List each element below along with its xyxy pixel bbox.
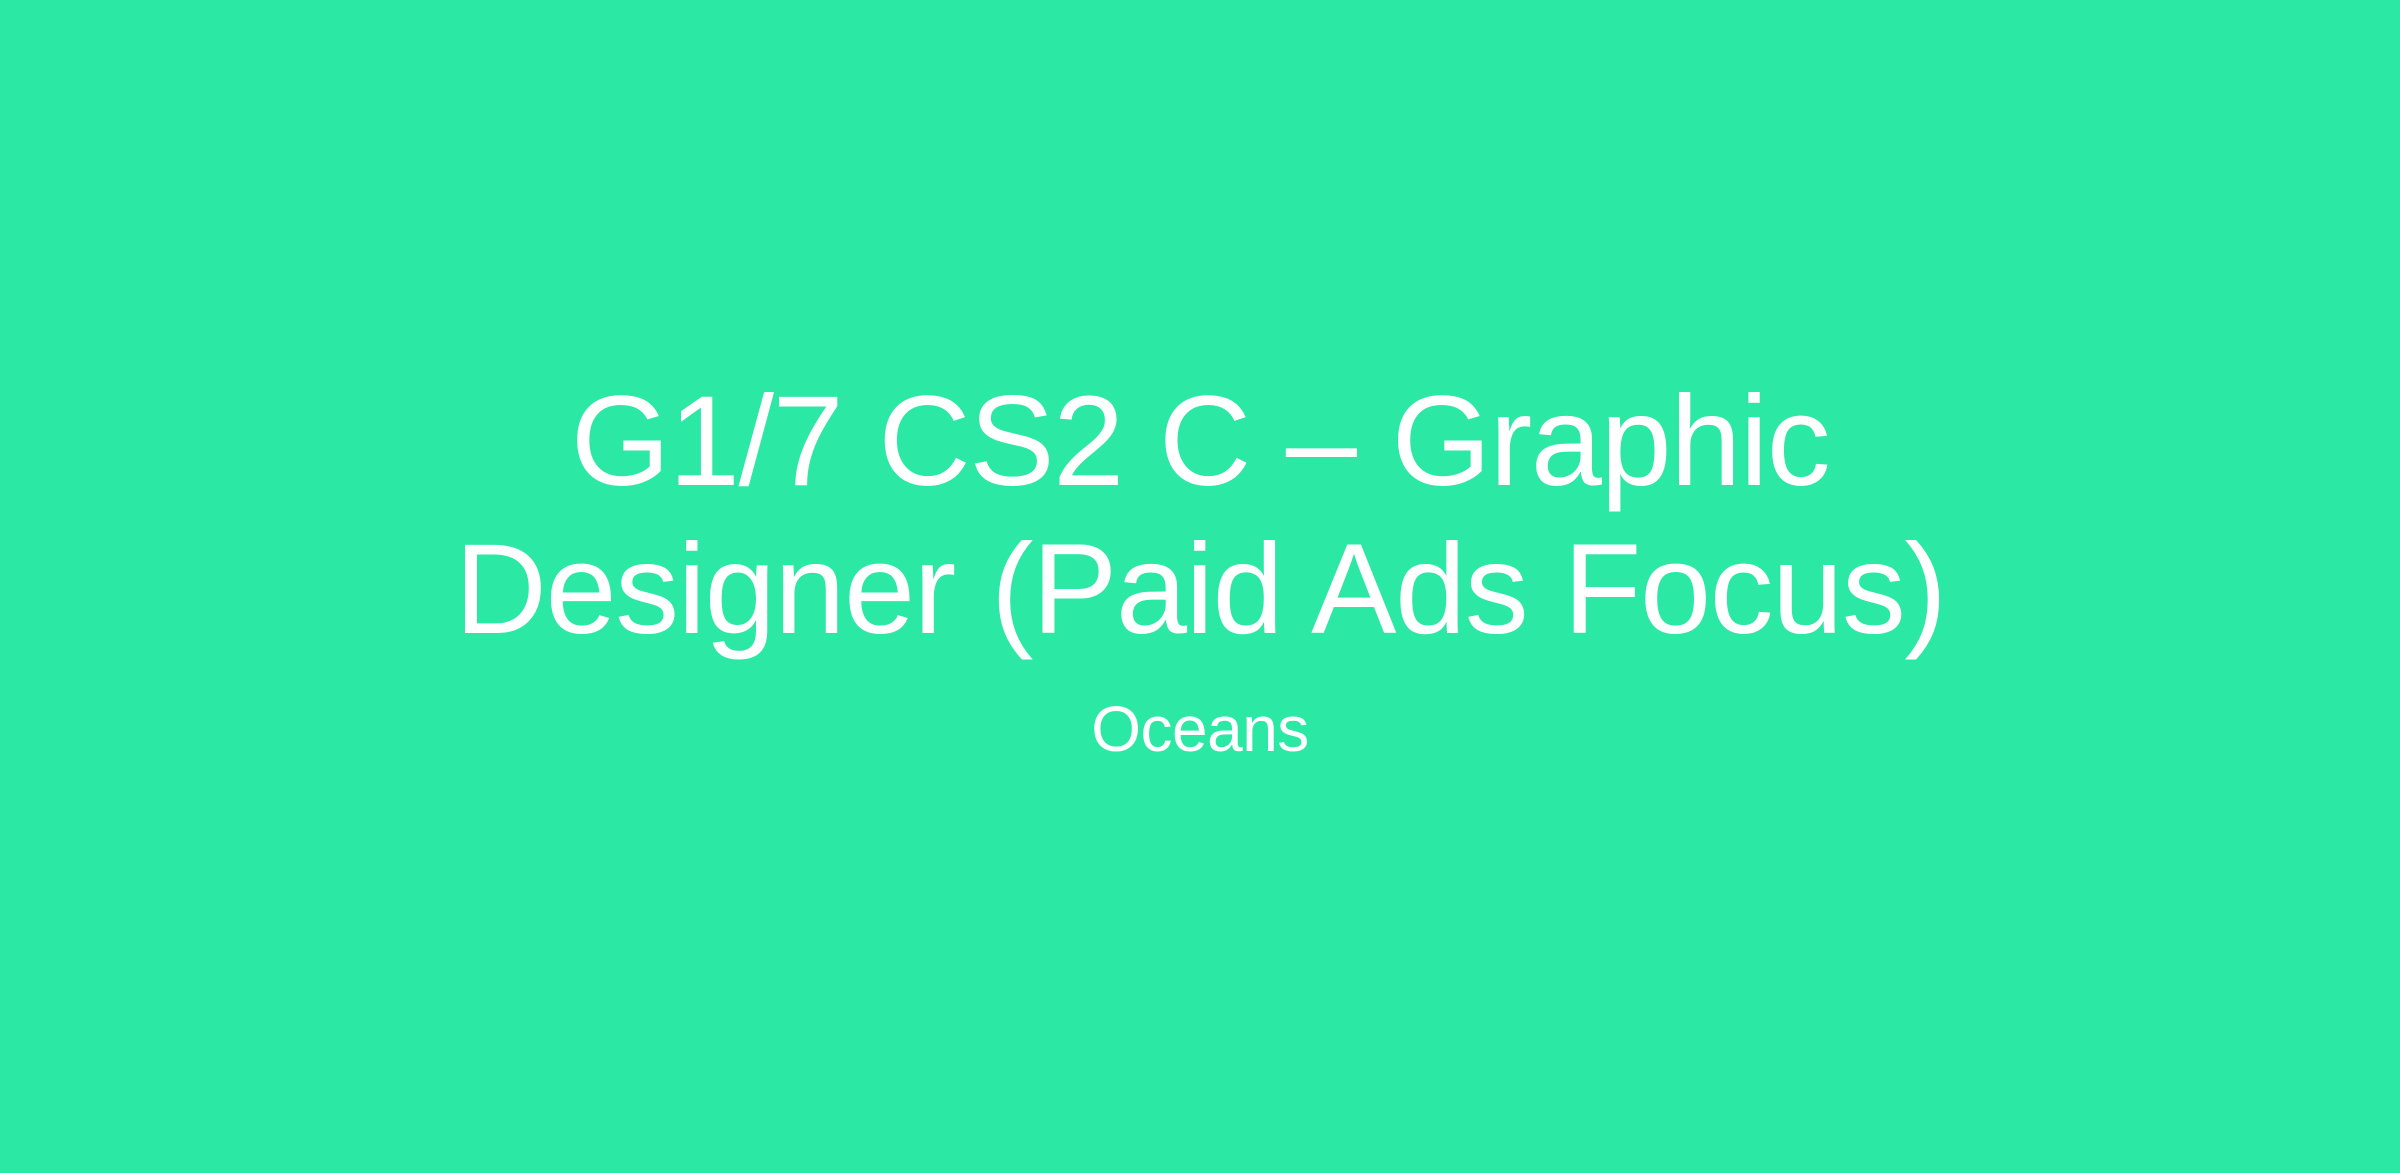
title-slide: G1/7 CS2 C – Graphic Designer (Paid Ads …: [0, 0, 2400, 1173]
page-title: G1/7 CS2 C – Graphic Designer (Paid Ads …: [380, 368, 2020, 665]
title-block: G1/7 CS2 C – Graphic Designer (Paid Ads …: [380, 368, 2020, 768]
page-subtitle: Oceans: [1091, 691, 1309, 768]
